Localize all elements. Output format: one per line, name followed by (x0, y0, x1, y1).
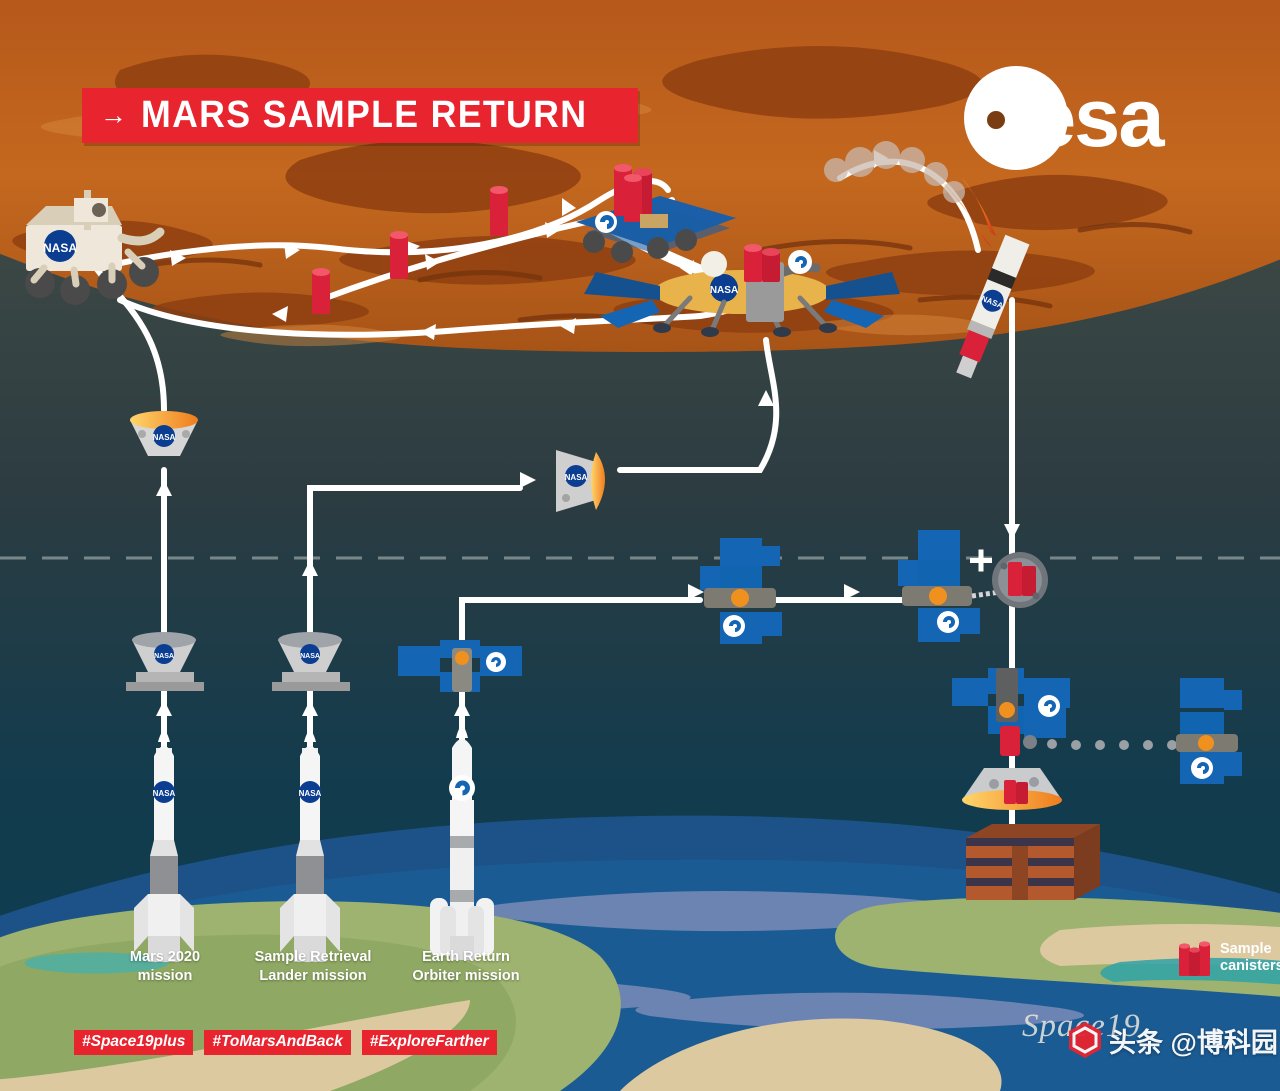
hashtag-item[interactable]: #ToMarsAndBack (204, 1030, 350, 1055)
arrow-right-icon: → (100, 102, 127, 129)
esa-logo: esa (960, 62, 1162, 174)
svg-text:NASA: NASA (565, 473, 588, 482)
hexagon-logo (1066, 1020, 1104, 1060)
legend-sample-canisters: Sample canisters (1178, 938, 1280, 978)
caption-mars-2020: Mars 2020 mission (104, 948, 226, 985)
sample-receiving-facility (966, 824, 1100, 900)
svg-text:NASA: NASA (710, 285, 738, 296)
sample-canisters-icon (1178, 938, 1212, 978)
svg-text:NASA: NASA (153, 789, 176, 798)
hashtag-bar: #Space19plus #ToMarsAndBack #ExploreFart… (74, 1030, 497, 1055)
overlay-watermark: 头条 @博科园 (1066, 1020, 1278, 1060)
infographic-canvas: NASA (0, 0, 1280, 1091)
mars-cruise-capsule: NASA (556, 450, 605, 512)
overlay-watermark-text: 头条 @博科园 (1109, 1021, 1278, 1060)
page-title: MARS SAMPLE RETURN (141, 94, 587, 137)
svg-text:NASA: NASA (153, 433, 176, 442)
legend-label: Sample canisters (1220, 941, 1280, 976)
svg-text:NASA: NASA (154, 653, 174, 660)
title-banner: → MARS SAMPLE RETURN (82, 88, 638, 143)
hashtag-item[interactable]: #ExploreFarther (362, 1030, 497, 1055)
hashtag-item[interactable]: #Space19plus (74, 1030, 193, 1055)
caption-earth-return-orbiter: Earth Return Orbiter mission (396, 948, 536, 985)
svg-text:NASA: NASA (299, 789, 322, 798)
caption-sample-retrieval-lander: Sample Retrieval Lander mission (236, 948, 390, 985)
svg-text:NASA: NASA (43, 241, 77, 255)
esa-wordmark: esa (1030, 86, 1162, 151)
svg-text:NASA: NASA (300, 653, 320, 660)
